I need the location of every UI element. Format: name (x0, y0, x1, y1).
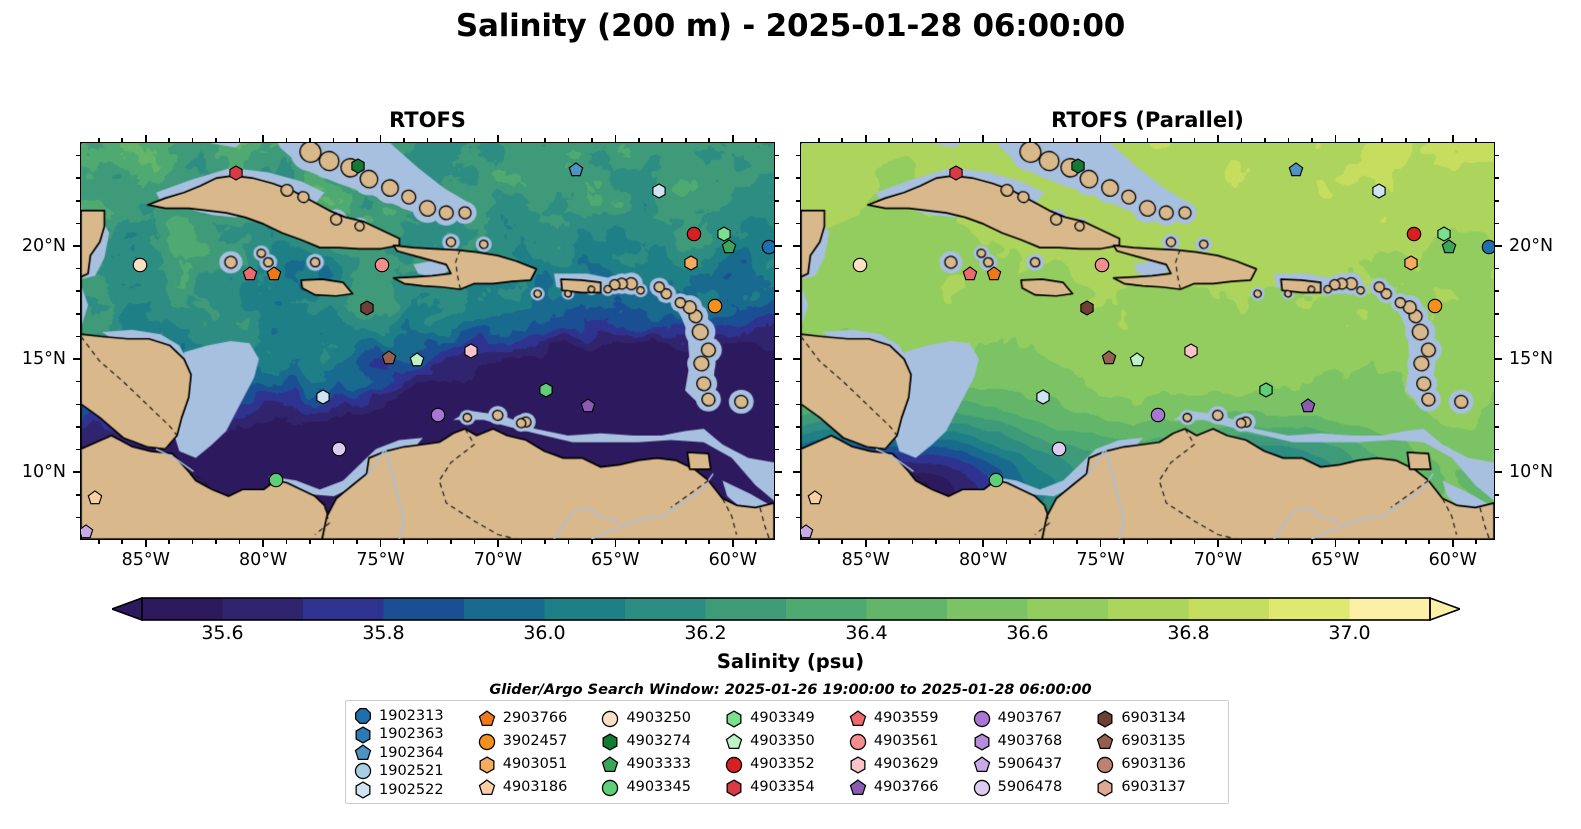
salinity-field-rtofs-parallel (801, 143, 1494, 539)
map-marker-5906437[interactable] (800, 524, 814, 540)
xtick-minor (1076, 540, 1078, 544)
map-panel-rtofs-parallel[interactable] (800, 142, 1495, 540)
xtick-major-top (262, 135, 264, 142)
legend-marker-hexagon-icon (973, 733, 991, 751)
ytick-minor-right (775, 449, 779, 451)
xtick-minor (215, 540, 217, 544)
ytick-minor-left (76, 381, 80, 383)
xtick-minor-top (1381, 138, 1383, 142)
xtick-minor-top (841, 138, 843, 142)
legend-item-4903350[interactable]: 4903350 (725, 730, 849, 753)
map-marker-2903766[interactable] (266, 266, 282, 286)
xtick-minor-top (521, 138, 523, 142)
xtick-major-top (145, 135, 147, 142)
legend-item-4903274[interactable]: 4903274 (601, 730, 725, 753)
legend-title: Glider/Argo Search Window: 2025-01-26 19… (0, 682, 1581, 698)
xtick-minor (1405, 540, 1407, 544)
legend-item-4903250[interactable]: 4903250 (601, 707, 725, 730)
xtick-major (865, 540, 867, 547)
legend-marker-circle-icon (725, 756, 743, 774)
legend-item-6903135[interactable]: 6903135 (1096, 730, 1220, 753)
colorbar-segment-8 (786, 598, 867, 620)
ytick-major-right (775, 245, 782, 247)
legend-label: 4903186 (503, 780, 568, 795)
map-marker-4903629[interactable] (463, 343, 479, 363)
legend-label: 4903766 (874, 780, 939, 795)
xtick-minor (1311, 540, 1313, 544)
ytick-minor-right (775, 381, 779, 383)
xtick-minor-top (1194, 138, 1196, 142)
xtick-minor-top (685, 138, 687, 142)
ytick-minor-right (1495, 200, 1499, 202)
map-marker-4903561[interactable] (1094, 257, 1110, 277)
xtick-minor-top (818, 138, 820, 142)
legend-marker-hexagon-icon (601, 733, 619, 751)
legend-item-1902363[interactable]: 1902363 (354, 725, 478, 743)
legend-label: 4903333 (626, 757, 691, 772)
xtick-minor-top (959, 138, 961, 142)
xtick-major (262, 540, 264, 547)
xtick-minor-top (1006, 138, 1008, 142)
xtick-minor-top (427, 138, 429, 142)
map-marker-4903350[interactable] (1129, 352, 1145, 372)
map-marker-3902457[interactable] (707, 298, 723, 318)
xtick-minor-top (935, 138, 937, 142)
colorbar-tick-label: 35.6 (201, 622, 243, 644)
colorbar-segment-10 (947, 598, 1028, 620)
ytick-minor-left (796, 426, 800, 428)
ytick-major-left (73, 471, 80, 473)
map-marker-6903135[interactable] (1101, 350, 1117, 370)
legend-label: 1902364 (379, 746, 444, 761)
legend-label: 4903274 (626, 734, 691, 749)
map-marker-1902313[interactable] (761, 239, 775, 259)
xtick-minor (1029, 540, 1031, 544)
xtick-minor (1006, 540, 1008, 544)
ytick-minor-left (76, 426, 80, 428)
ytick-minor-left (796, 313, 800, 315)
legend-marker-circle-icon (849, 733, 867, 751)
xtick-minor-top (1076, 138, 1078, 142)
xtick-minor-top (1288, 138, 1290, 142)
xtick-minor (591, 540, 593, 544)
xtick-major-top (380, 135, 382, 142)
xtick-minor (1123, 540, 1125, 544)
map-marker-4903333[interactable] (1441, 239, 1457, 259)
xtick-minor-top (888, 138, 890, 142)
xtick-minor-top (1358, 138, 1360, 142)
legend-column-5: 4903767490376859064375906478 (973, 707, 1097, 799)
xtick-major (1217, 540, 1219, 547)
xtick-minor-top (215, 138, 217, 142)
xtick-major (497, 540, 499, 547)
ytick-minor-left (76, 336, 80, 338)
ytick-minor-right (1495, 290, 1499, 292)
legend-item-4903349[interactable]: 4903349 (725, 707, 849, 730)
map-marker-4903274[interactable] (350, 158, 366, 178)
colorbar-extend-max (1430, 598, 1460, 620)
xtick-minor (708, 540, 710, 544)
legend-label: 4903250 (626, 711, 691, 726)
legend-label: 4903051 (503, 757, 568, 772)
legend-item-4903051[interactable]: 4903051 (478, 753, 602, 776)
map-panel-rtofs[interactable] (80, 142, 775, 540)
ytick-minor-right (1495, 381, 1499, 383)
xtick-minor (98, 540, 100, 544)
legend-marker-pentagon-icon (478, 710, 496, 728)
ytick-label-right: 20°N (1509, 236, 1553, 256)
legend-item-4903333[interactable]: 4903333 (601, 753, 725, 776)
legend-label: 4903352 (750, 757, 815, 772)
legend-label: 4903349 (750, 711, 815, 726)
xtick-minor-top (1311, 138, 1313, 142)
map-marker-5906437[interactable] (80, 524, 94, 540)
ytick-label-right: 10°N (1509, 462, 1553, 482)
map-marker-4903352[interactable] (1406, 226, 1422, 246)
map-marker-1902522[interactable] (1035, 389, 1051, 409)
map-marker-4903767[interactable] (1150, 407, 1166, 427)
legend-column-2: 4903250490327449033334903345 (601, 707, 725, 799)
legend-item-4903768[interactable]: 4903768 (973, 730, 1097, 753)
map-marker-4903186[interactable] (87, 490, 103, 510)
map-marker-1902522[interactable] (651, 183, 667, 203)
ytick-major-right (1495, 358, 1502, 360)
xtick-minor (568, 540, 570, 544)
map-marker-3902457[interactable] (1427, 298, 1443, 318)
legend-marker-pentagon-icon (849, 710, 867, 728)
xtick-minor-top (192, 138, 194, 142)
xtick-minor-top (239, 138, 241, 142)
xtick-minor (239, 540, 241, 544)
ytick-minor-left (796, 155, 800, 157)
legend-item-4903561[interactable]: 4903561 (849, 730, 973, 753)
legend-item-4903559[interactable]: 4903559 (849, 707, 973, 730)
map-marker-4903352[interactable] (948, 165, 964, 185)
legend-item-4903345[interactable]: 4903345 (601, 776, 725, 799)
ytick-minor-right (1495, 494, 1499, 496)
xtick-minor (638, 540, 640, 544)
ytick-minor-left (796, 494, 800, 496)
colorbar-tick-label: 35.8 (362, 622, 404, 644)
map-marker-4903767[interactable] (430, 407, 446, 427)
legend-item-6903134[interactable]: 6903134 (1096, 707, 1220, 730)
ytick-minor-left (76, 223, 80, 225)
xtick-label: 85°W (122, 550, 170, 570)
map-marker-4903350[interactable] (409, 352, 425, 372)
legend-item-4903629[interactable]: 4903629 (849, 753, 973, 776)
legend-column-0: 19023131902363190236419025211902522 (354, 707, 478, 799)
xtick-minor (1053, 540, 1055, 544)
xtick-label: 60°W (1429, 550, 1477, 570)
ytick-label-right: 15°N (1509, 349, 1553, 369)
colorbar-segment-12 (1108, 598, 1189, 620)
map-marker-5906478[interactable] (1051, 441, 1067, 461)
map-marker-4903250[interactable] (132, 257, 148, 277)
xtick-major (1100, 540, 1102, 547)
map-marker-4903559[interactable] (242, 266, 258, 286)
map-marker-6903134[interactable] (359, 300, 375, 320)
map-marker-4903345[interactable] (538, 382, 554, 402)
legend-item-1902364[interactable]: 1902364 (354, 744, 478, 762)
page-title: Salinity (200 m) - 2025-01-28 06:00:00 (0, 8, 1581, 44)
xtick-minor (192, 540, 194, 544)
xtick-minor (755, 540, 757, 544)
legend-item-1902521[interactable]: 1902521 (354, 762, 478, 780)
ytick-minor-right (775, 517, 779, 519)
legend-marker-circle-icon (478, 733, 496, 751)
ytick-minor-right (1495, 177, 1499, 179)
legend-marker-circle-icon (601, 710, 619, 728)
map-marker-4903345[interactable] (988, 472, 1004, 492)
xtick-minor (450, 540, 452, 544)
xtick-minor-top (544, 138, 546, 142)
ytick-major-right (775, 471, 782, 473)
legend-item-2903766[interactable]: 2903766 (478, 707, 602, 730)
xtick-minor-top (1029, 138, 1031, 142)
ytick-minor-right (775, 155, 779, 157)
panel-title-rtofs-parallel: RTOFS (Parallel) (800, 108, 1495, 132)
xtick-minor-top (568, 138, 570, 142)
xtick-minor (427, 540, 429, 544)
legend-item-4903766[interactable]: 4903766 (849, 776, 973, 799)
xtick-minor (333, 540, 335, 544)
xtick-minor (661, 540, 663, 544)
colorbar-segment-3 (384, 598, 465, 620)
colorbar-tick-label: 36.0 (523, 622, 565, 644)
legend-marker-hexagon-icon (725, 710, 743, 728)
xtick-label: 65°W (591, 550, 639, 570)
xtick-major (145, 540, 147, 547)
legend-item-4903352[interactable]: 4903352 (725, 753, 849, 776)
ytick-minor-right (775, 426, 779, 428)
xtick-minor (1381, 540, 1383, 544)
ytick-minor-right (1495, 313, 1499, 315)
ytick-major-right (775, 358, 782, 360)
xtick-major (1335, 540, 1337, 547)
xtick-minor (521, 540, 523, 544)
ytick-major-right (1495, 245, 1502, 247)
ytick-minor-right (775, 313, 779, 315)
xtick-minor-top (638, 138, 640, 142)
legend-item-4903186[interactable]: 4903186 (478, 776, 602, 799)
xtick-minor-top (708, 138, 710, 142)
ytick-minor-right (1495, 404, 1499, 406)
legend-marker-circle-icon (601, 779, 619, 797)
xtick-minor (403, 540, 405, 544)
xtick-label: 70°W (474, 550, 522, 570)
legend-label: 1902521 (379, 764, 444, 779)
xtick-major-top (497, 135, 499, 142)
legend-label: 4903561 (874, 734, 939, 749)
map-marker-4903766[interactable] (580, 398, 596, 418)
xtick-minor (1147, 540, 1149, 544)
ytick-minor-right (775, 177, 779, 179)
ytick-minor-right (1495, 449, 1499, 451)
map-marker-4903333[interactable] (721, 239, 737, 259)
xtick-label: 65°W (1311, 550, 1359, 570)
xtick-major-top (732, 135, 734, 142)
xtick-major-top (1217, 135, 1219, 142)
colorbar-segment-13 (1189, 598, 1270, 620)
colorbar-tick-label: 36.6 (1006, 622, 1048, 644)
ytick-minor-right (1495, 426, 1499, 428)
xtick-minor (1475, 540, 1477, 544)
legend-marker-hexagon-icon (1096, 779, 1114, 797)
xtick-minor (1170, 540, 1172, 544)
colorbar-tick-label: 36.8 (1167, 622, 1209, 644)
legend-item-3902457[interactable]: 3902457 (478, 730, 602, 753)
xtick-label: 75°W (1076, 550, 1124, 570)
xtick-minor-top (121, 138, 123, 142)
xtick-minor (1241, 540, 1243, 544)
colorbar-segment-4 (464, 598, 545, 620)
map-marker-1902364[interactable] (568, 162, 584, 182)
map-marker-4903766[interactable] (1300, 398, 1316, 418)
map-marker-4903629[interactable] (1183, 343, 1199, 363)
legend-item-6903136[interactable]: 6903136 (1096, 753, 1220, 776)
xtick-minor-top (168, 138, 170, 142)
map-marker-4903352[interactable] (228, 165, 244, 185)
xtick-minor (959, 540, 961, 544)
legend-label: 4903768 (998, 734, 1063, 749)
legend-item-6903137[interactable]: 6903137 (1096, 776, 1220, 799)
xtick-minor-top (1241, 138, 1243, 142)
ytick-minor-left (796, 268, 800, 270)
ytick-major-left (793, 358, 800, 360)
legend-label: 5906478 (998, 780, 1063, 795)
legend-item-4903354[interactable]: 4903354 (725, 776, 849, 799)
colorbar-segment-15 (1350, 598, 1431, 620)
map-marker-4903274[interactable] (1070, 158, 1086, 178)
ytick-minor-left (76, 404, 80, 406)
map-marker-6903134[interactable] (1079, 300, 1095, 320)
colorbar-extend-min (112, 598, 142, 620)
legend-item-1902313[interactable]: 1902313 (354, 707, 478, 725)
legend-box[interactable]: 1902313190236319023641902521190252229037… (345, 700, 1229, 804)
map-marker-1902522[interactable] (1371, 183, 1387, 203)
legend-marker-hexagon-icon (354, 781, 372, 799)
xtick-minor-top (1428, 138, 1430, 142)
ytick-minor-left (76, 177, 80, 179)
ytick-minor-left (796, 177, 800, 179)
ytick-major-left (73, 358, 80, 360)
xtick-label: 60°W (709, 550, 757, 570)
legend-label: 4903345 (626, 780, 691, 795)
xtick-minor-top (1123, 138, 1125, 142)
legend-marker-pentagon-icon (601, 756, 619, 774)
xtick-minor-top (98, 138, 100, 142)
map-marker-1902364[interactable] (1288, 162, 1304, 182)
xtick-major (615, 540, 617, 547)
ytick-minor-left (76, 494, 80, 496)
xtick-minor-top (1475, 138, 1477, 142)
xtick-major-top (1452, 135, 1454, 142)
ytick-minor-left (796, 449, 800, 451)
ytick-minor-left (76, 449, 80, 451)
legend-marker-pentagon-icon (973, 756, 991, 774)
map-marker-5906478[interactable] (331, 441, 347, 461)
ytick-major-left (793, 245, 800, 247)
xtick-label: 85°W (842, 550, 890, 570)
colorbar-tick-label: 37.0 (1328, 622, 1370, 644)
ytick-minor-left (796, 200, 800, 202)
legend-marker-pentagon-icon (354, 744, 372, 762)
panel-title-rtofs: RTOFS (80, 108, 775, 132)
map-marker-4903250[interactable] (852, 257, 868, 277)
legend-label: 4903559 (874, 711, 939, 726)
legend-marker-pentagon-icon (849, 779, 867, 797)
map-marker-4903561[interactable] (374, 257, 390, 277)
xtick-minor-top (912, 138, 914, 142)
legend-label: 4903350 (750, 734, 815, 749)
colorbar-segment-2 (303, 598, 384, 620)
colorbar-segment-7 (706, 598, 787, 620)
xtick-minor (818, 540, 820, 544)
ytick-label-left: 10°N (22, 462, 66, 482)
legend-marker-circle-icon (973, 779, 991, 797)
xtick-major-top (1100, 135, 1102, 142)
legend-item-4903767[interactable]: 4903767 (973, 707, 1097, 730)
legend-item-5906478[interactable]: 5906478 (973, 776, 1097, 799)
map-marker-1902313[interactable] (1481, 239, 1495, 259)
ytick-major-right (1495, 471, 1502, 473)
legend-label: 1902313 (379, 709, 444, 724)
xtick-minor-top (1170, 138, 1172, 142)
legend-label: 2903766 (503, 711, 568, 726)
legend-marker-hexagon-icon (354, 726, 372, 744)
xtick-minor (544, 540, 546, 544)
map-marker-4903345[interactable] (1258, 382, 1274, 402)
map-marker-4903352[interactable] (686, 226, 702, 246)
legend-item-1902522[interactable]: 1902522 (354, 781, 478, 799)
ytick-minor-left (796, 223, 800, 225)
xtick-major-top (1335, 135, 1337, 142)
salinity-field-rtofs (81, 143, 774, 539)
map-marker-6903135[interactable] (381, 350, 397, 370)
xtick-label: 80°W (239, 550, 287, 570)
legend-marker-hexagon-icon (849, 756, 867, 774)
xtick-minor-top (403, 138, 405, 142)
map-marker-4903186[interactable] (807, 490, 823, 510)
legend-label: 3902457 (503, 734, 568, 749)
map-marker-4903559[interactable] (962, 266, 978, 286)
xtick-minor-top (755, 138, 757, 142)
xtick-minor (1358, 540, 1360, 544)
colorbar-segment-11 (1028, 598, 1109, 620)
map-marker-2903766[interactable] (986, 266, 1002, 286)
map-marker-4903051[interactable] (683, 255, 699, 275)
legend-label: 4903629 (874, 757, 939, 772)
xtick-label: 80°W (959, 550, 1007, 570)
colorbar-segment-9 (867, 598, 948, 620)
legend-column-1: 2903766390245749030514903186 (478, 707, 602, 799)
map-marker-1902522[interactable] (315, 389, 331, 409)
legend-marker-octagon-icon (354, 707, 372, 725)
legend-marker-hexagon-icon (725, 779, 743, 797)
map-marker-4903345[interactable] (268, 472, 284, 492)
legend-item-5906437[interactable]: 5906437 (973, 753, 1097, 776)
ytick-label-left: 20°N (22, 236, 66, 256)
ytick-label-left: 15°N (22, 349, 66, 369)
ytick-minor-left (796, 290, 800, 292)
colorbar (112, 597, 1460, 621)
ytick-minor-left (76, 268, 80, 270)
ytick-minor-right (1495, 336, 1499, 338)
ytick-minor-right (1495, 268, 1499, 270)
map-marker-4903051[interactable] (1403, 255, 1419, 275)
xtick-minor-top (1147, 138, 1149, 142)
ytick-minor-right (775, 268, 779, 270)
